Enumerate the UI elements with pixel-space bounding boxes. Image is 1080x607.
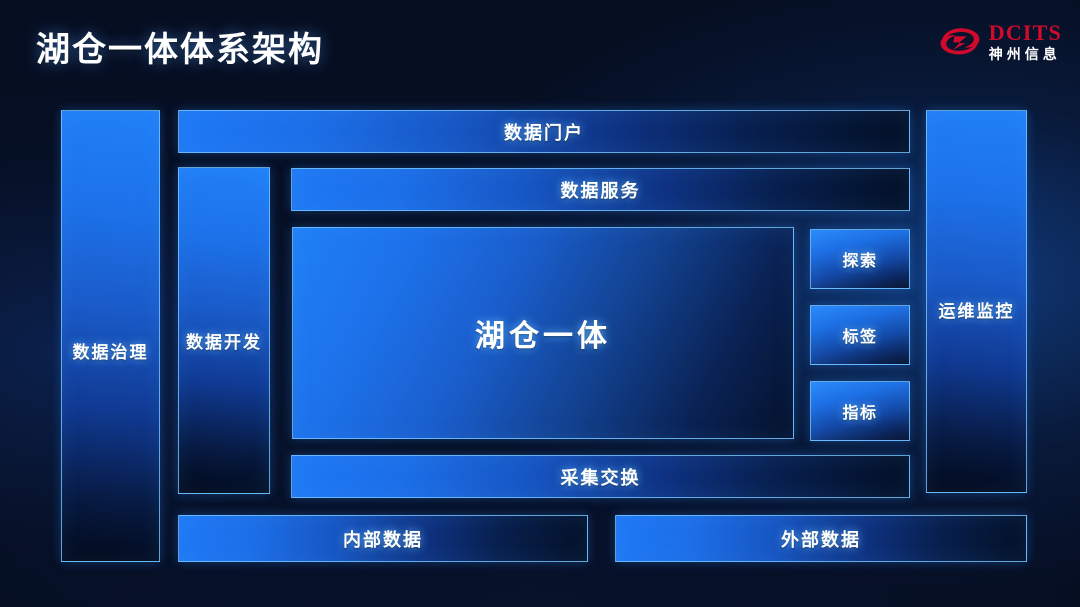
- chip-tag-label: 标签: [842, 323, 877, 347]
- brand-name-cn: 神州信息: [989, 47, 1062, 61]
- block-data-governance[interactable]: 数据治理: [61, 110, 160, 562]
- block-external-data-label: 外部数据: [781, 526, 861, 552]
- block-data-development-label: 数据开发: [179, 328, 269, 353]
- block-data-portal[interactable]: 数据门户: [178, 110, 910, 153]
- block-collect-exchange[interactable]: 采集交换: [291, 455, 910, 498]
- block-ops-monitoring[interactable]: 运维监控: [926, 110, 1027, 493]
- chip-explore[interactable]: 探索: [810, 229, 910, 289]
- block-data-service[interactable]: 数据服务: [291, 168, 910, 211]
- block-external-data[interactable]: 外部数据: [615, 515, 1027, 562]
- block-data-service-label: 数据服务: [561, 177, 641, 203]
- chip-metric-label: 指标: [842, 399, 877, 423]
- block-data-development[interactable]: 数据开发: [178, 167, 270, 494]
- block-data-governance-label: 数据治理: [62, 338, 159, 363]
- brand-logo: DCITS 神州信息: [938, 18, 1062, 64]
- dcits-swirl-icon: [938, 22, 982, 60]
- block-data-portal-label: 数据门户: [504, 119, 584, 145]
- slide-canvas: 湖仓一体体系架构 DCITS 神州信息 数据治理 数据门户 数据开发 数据服务: [0, 0, 1080, 607]
- block-lakehouse[interactable]: 湖仓一体: [292, 227, 794, 439]
- block-ops-monitoring-label: 运维监控: [927, 297, 1026, 322]
- page-title: 湖仓一体体系架构: [36, 22, 324, 71]
- chip-metric[interactable]: 指标: [810, 381, 910, 441]
- chip-tag[interactable]: 标签: [810, 305, 910, 365]
- brand-logo-text: DCITS 神州信息: [989, 22, 1062, 61]
- block-internal-data-label: 内部数据: [343, 526, 423, 552]
- block-internal-data[interactable]: 内部数据: [178, 515, 588, 562]
- block-lakehouse-label: 湖仓一体: [475, 311, 611, 355]
- brand-name-en: DCITS: [989, 22, 1062, 44]
- block-collect-exchange-label: 采集交换: [561, 464, 641, 490]
- chip-explore-label: 探索: [842, 247, 877, 271]
